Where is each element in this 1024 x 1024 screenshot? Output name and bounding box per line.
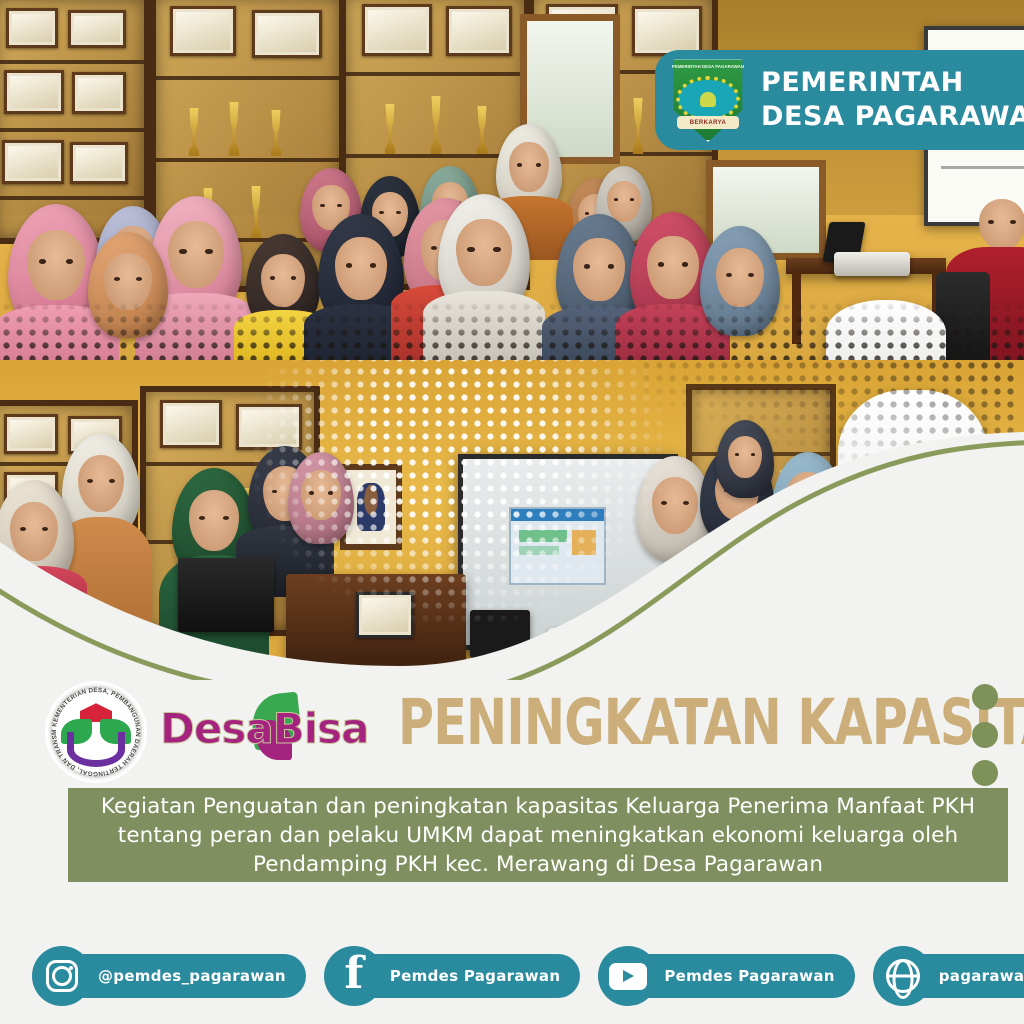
desabisa-logo: DesaBisa xyxy=(160,696,340,762)
youtube-icon[interactable] xyxy=(598,946,658,1006)
government-banner: PEMERINTAH DESA PAGARAWAN BERKARYA PEMER… xyxy=(655,50,1024,150)
kemendesa-logo: KEMENTERIAN DESA, PEMBANGUNAN DAERAH TER… xyxy=(48,684,144,780)
description-band: Kegiatan Penguatan dan peningkatan kapas… xyxy=(68,788,1008,882)
attendee xyxy=(716,420,774,498)
projector xyxy=(834,252,910,276)
social-instagram[interactable]: @pemdes_pagarawan xyxy=(32,947,306,1005)
social-youtube-label: Pemdes Pagarawan xyxy=(664,967,834,985)
social-website[interactable]: pagarawan.desa.id xyxy=(873,947,1024,1005)
table-leg xyxy=(792,272,801,344)
desabisa-wordmark: DesaBisa xyxy=(160,704,368,753)
attendee xyxy=(772,452,844,552)
emblem-top-text: PEMERINTAH DESA PAGARAWAN xyxy=(669,64,747,70)
chair-cover xyxy=(838,390,988,600)
attendee xyxy=(88,232,168,338)
projector xyxy=(548,628,620,650)
emblem-motto: BERKARYA xyxy=(677,116,739,129)
title-dots xyxy=(972,684,998,786)
government-title: PEMERINTAH DESA PAGARAWAN xyxy=(761,66,1024,134)
social-facebook-label: Pemdes Pagarawan xyxy=(390,967,560,985)
attendee xyxy=(288,452,354,544)
projected-slide xyxy=(509,507,606,585)
attendee xyxy=(700,226,780,336)
social-instagram-label: @pemdes_pagarawan xyxy=(98,967,286,985)
social-facebook[interactable]: f Pemdes Pagarawan xyxy=(324,947,580,1005)
page-title: PENINGKATAN KAPASITAS xyxy=(398,680,1024,766)
description-text: Kegiatan Penguatan dan peningkatan kapas… xyxy=(82,792,994,879)
government-title-line2: DESA PAGARAWAN xyxy=(761,100,1024,134)
dot-icon xyxy=(972,760,998,786)
dot-icon xyxy=(972,722,998,748)
svg-text:KEMENTERIAN DESA, PEMBANGUNAN: KEMENTERIAN DESA, PEMBANGUNAN DAERAH TER… xyxy=(48,684,141,777)
desa-pagarawan-emblem: PEMERINTAH DESA PAGARAWAN BERKARYA xyxy=(669,58,747,142)
flyer xyxy=(356,592,414,638)
government-title-line1: PEMERINTAH xyxy=(761,66,1024,100)
attendee xyxy=(0,480,74,590)
monitor xyxy=(178,558,274,632)
globe-icon[interactable] xyxy=(873,946,933,1006)
dot-icon xyxy=(972,684,998,710)
social-youtube[interactable]: Pemdes Pagarawan xyxy=(598,947,854,1005)
attendee xyxy=(438,194,530,318)
kemendesa-ring-text: KEMENTERIAN DESA, PEMBANGUNAN DAERAH TER… xyxy=(48,684,144,780)
social-footer: @pemdes_pagarawan f Pemdes Pagarawan Pem… xyxy=(0,928,1024,1024)
laptop xyxy=(470,610,530,658)
title-row: KEMENTERIAN DESA, PEMBANGUNAN DAERAH TER… xyxy=(0,672,1024,772)
facebook-icon[interactable]: f xyxy=(324,946,384,1006)
photo-bottom xyxy=(0,360,1024,680)
instagram-icon[interactable] xyxy=(32,946,92,1006)
social-website-label: pagarawan.desa.id xyxy=(939,967,1024,985)
